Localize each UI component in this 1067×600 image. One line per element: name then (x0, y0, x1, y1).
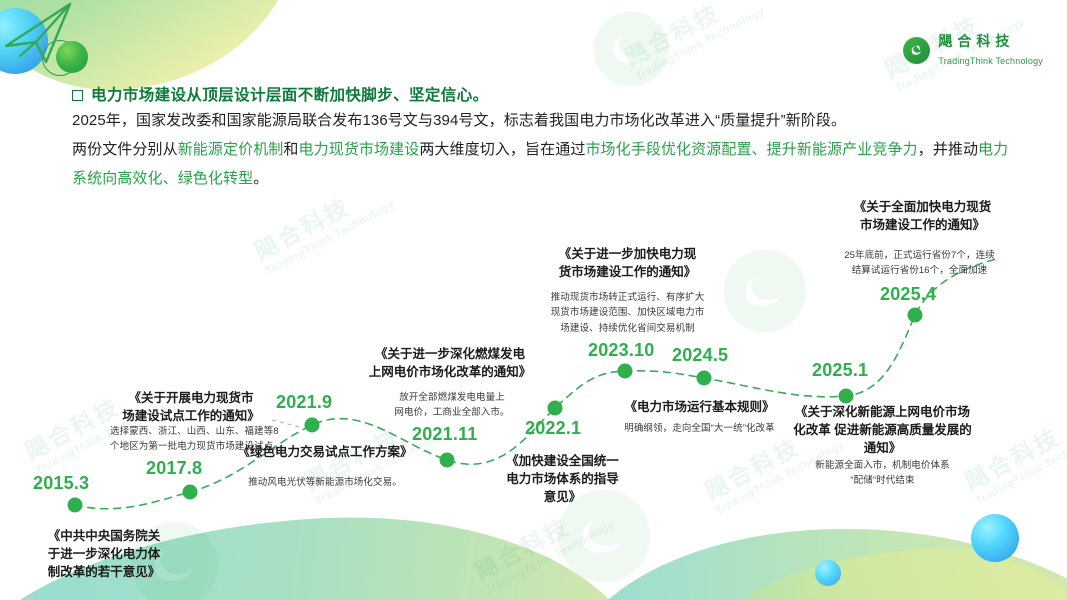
timeline-year-2024-5: 2024.5 (672, 345, 728, 366)
timeline-desc-2021-11: 放开全部燃煤发电电量上网电价，工商业全部入市。 (352, 390, 552, 421)
timeline-year-2025-1: 2025.1 (812, 360, 868, 381)
timeline-title-2023-10: 《关于进一步加快电力现货市场建设工作的通知》 (520, 245, 735, 281)
timeline-title-2015-3: 《中共中央国务院关于进一步深化电力体制改革的若干意见》 (24, 527, 184, 581)
timeline-year-2021-9: 2021.9 (276, 392, 332, 413)
timeline-dot-2025-4[interactable] (908, 308, 923, 323)
timeline-desc-2025-1: 新能源全面入市，机制电价体系“配储”时代结束 (770, 458, 995, 489)
timeline-title-2024-5: 《电力市场运行基本规则》 (612, 398, 787, 416)
timeline-desc-2024-5: 明确纲领，走向全国“大一统”化改革 (612, 421, 787, 436)
timeline-year-2022-1: 2022.1 (525, 418, 581, 439)
timeline-dot-2023-10[interactable] (618, 364, 633, 379)
timeline-title-2021-9: 《绿色电力交易试点工作方案》 (185, 443, 465, 461)
timeline-dot-2021-11[interactable] (440, 453, 455, 468)
timeline-title-2021-11: 《关于进一步深化燃煤发电上网电价市场化改革的通知》 (345, 345, 555, 381)
timeline-dot-2024-5[interactable] (697, 371, 712, 386)
slide-root: 飓合科技 TradingThink Technology 飓合科技 Tradin… (0, 0, 1067, 600)
timeline-title-2025-4: 《关于全面加快电力现货市场建设工作的通知》 (810, 198, 1035, 234)
timeline-year-2025-4: 2025.4 (880, 284, 936, 305)
timeline-year-2021-11: 2021.11 (412, 424, 477, 445)
timeline-title-2017-8: 《关于开展电力现货市场建设试点工作的通知》 (96, 389, 286, 425)
timeline-title-2025-1: 《关于深化新能源上网电价市场化改革 促进新能源高质量发展的通知》 (770, 403, 995, 457)
timeline-desc-2023-10: 推动现货市场转正式运行、有序扩大现货市场建设范围、加快区域电力市场建设、持续优化… (520, 290, 735, 336)
timeline: 2015.3 《中共中央国务院关于进一步深化电力体制改革的若干意见》 2017.… (0, 0, 1067, 600)
timeline-desc-2025-4: 25年底前，正式运行省份7个，连续结算试运行省份16个，全面加速 (812, 248, 1027, 279)
timeline-dot-2015-3[interactable] (68, 498, 83, 513)
timeline-year-2015-3: 2015.3 (33, 473, 89, 494)
timeline-dot-2022-1[interactable] (548, 401, 563, 416)
paper-plane-arrow-icon (0, 0, 78, 66)
timeline-dot-2025-1[interactable] (839, 389, 854, 404)
timeline-desc-2021-9: 推动风电光伏等新能源市场化交易。 (185, 475, 465, 490)
timeline-dot-2021-9[interactable] (305, 418, 320, 433)
timeline-title-2022-1: 《加快建设全国统一电力市场体系的指导意见》 (490, 452, 635, 506)
timeline-year-2023-10: 2023.10 (588, 340, 654, 361)
